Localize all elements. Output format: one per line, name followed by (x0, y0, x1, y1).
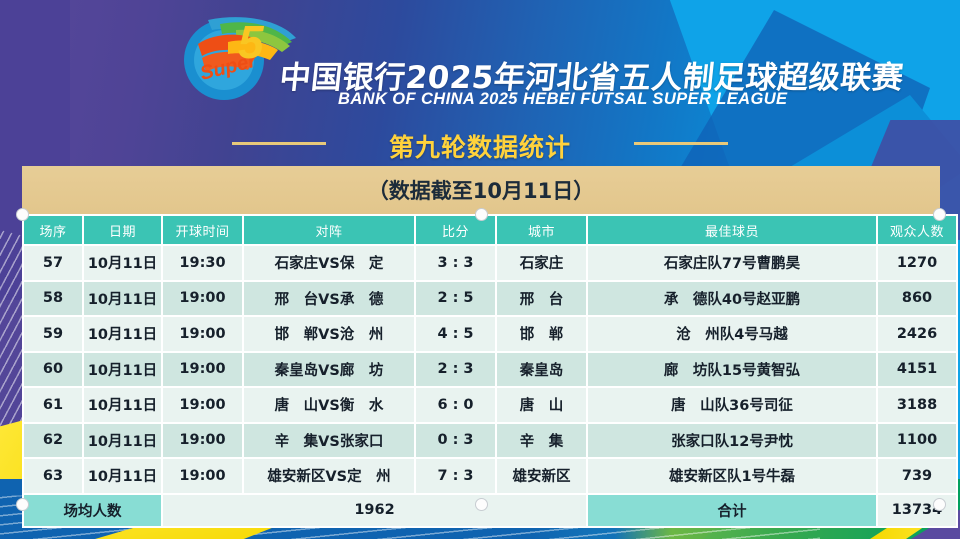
subtitle-text: 第九轮数据统计 (0, 128, 960, 164)
cell-score: 6 : 0 (416, 388, 495, 422)
cell-score: 4 : 5 (416, 317, 495, 351)
cell-fixture: 辛 集VS张家口 (244, 424, 414, 458)
cell-match-no: 60 (24, 353, 82, 387)
cell-match-no: 61 (24, 388, 82, 422)
cell-attendance: 2426 (878, 317, 956, 351)
col-header-kickoff: 开球时间 (163, 216, 242, 244)
page-header: Super 5 中国银行2025年河北省五人制足球超级联赛 BANK OF CH… (0, 0, 960, 118)
cell-attendance: 1100 (878, 424, 956, 458)
cell-kickoff: 19:00 (163, 388, 242, 422)
cell-match-no: 59 (24, 317, 82, 351)
cell-date: 10月11日 (84, 246, 161, 280)
cell-date: 10月11日 (84, 388, 161, 422)
cell-kickoff: 19:00 (163, 424, 242, 458)
cell-date: 10月11日 (84, 353, 161, 387)
cell-kickoff: 19:00 (163, 317, 242, 351)
footer-row: 场均人数 1962 合计 13734 (24, 495, 956, 526)
cell-fixture: 雄安新区VS定 州 (244, 459, 414, 493)
cell-fixture: 石家庄VS保 定 (244, 246, 414, 280)
cell-score: 2 : 5 (416, 282, 495, 316)
col-header-fixture: 对阵 (244, 216, 414, 244)
table-header-row: 场序 日期 开球时间 对阵 比分 城市 最佳球员 观众人数 (24, 216, 956, 244)
cell-date: 10月11日 (84, 317, 161, 351)
cell-city: 辛 集 (497, 424, 586, 458)
cell-score: 3 : 3 (416, 246, 495, 280)
cell-city: 雄安新区 (497, 459, 586, 493)
col-header-city: 城市 (497, 216, 586, 244)
cell-match-no: 58 (24, 282, 82, 316)
cell-mvp: 张家口队12号尹忱 (588, 424, 876, 458)
cell-mvp: 沧 州队4号马越 (588, 317, 876, 351)
footer-average-value: 1962 (163, 495, 586, 526)
col-header-attendance: 观众人数 (878, 216, 956, 244)
cell-attendance: 4151 (878, 353, 956, 387)
panel-caption-bar: （数据截至10月11日） (22, 166, 940, 214)
table-row: 62 10月11日 19:00 辛 集VS张家口 0 : 3 辛 集 张家口队1… (24, 424, 956, 458)
table-row: 61 10月11日 19:00 唐 山VS衡 水 6 : 0 唐 山 唐 山队3… (24, 388, 956, 422)
stats-panel: （数据截至10月11日） 场序 日期 开球时间 对阵 比分 城市 最佳球员 观众… (22, 166, 940, 506)
cell-kickoff: 19:00 (163, 459, 242, 493)
pin-dot-top-left (16, 208, 29, 221)
cell-date: 10月11日 (84, 282, 161, 316)
cell-kickoff: 19:00 (163, 353, 242, 387)
cell-match-no: 57 (24, 246, 82, 280)
table-footer: 场均人数 1962 合计 13734 (24, 495, 956, 526)
table-row: 59 10月11日 19:00 邯 郸VS沧 州 4 : 5 邯 郸 沧 州队4… (24, 317, 956, 351)
col-header-date: 日期 (84, 216, 161, 244)
match-stats-table: 场序 日期 开球时间 对阵 比分 城市 最佳球员 观众人数 57 10月11日 … (22, 214, 958, 528)
cell-mvp: 唐 山队36号司征 (588, 388, 876, 422)
table-row: 57 10月11日 19:30 石家庄VS保 定 3 : 3 石家庄 石家庄队7… (24, 246, 956, 280)
cell-city: 秦皇岛 (497, 353, 586, 387)
cell-score: 0 : 3 (416, 424, 495, 458)
footer-average-label: 场均人数 (24, 495, 161, 526)
cell-city: 邢 台 (497, 282, 586, 316)
table-body: 57 10月11日 19:30 石家庄VS保 定 3 : 3 石家庄 石家庄队7… (24, 246, 956, 493)
table-row: 58 10月11日 19:00 邢 台VS承 德 2 : 5 邢 台 承 德队4… (24, 282, 956, 316)
cell-attendance: 3188 (878, 388, 956, 422)
footer-total-label: 合计 (588, 495, 876, 526)
event-title-en: BANK OF CHINA 2025 HEBEI FUTSAL SUPER LE… (338, 90, 787, 109)
cell-attendance: 860 (878, 282, 956, 316)
cell-date: 10月11日 (84, 424, 161, 458)
pin-dot-bottom-middle (475, 498, 488, 511)
subtitle-band: 第九轮数据统计 (0, 118, 960, 168)
cell-match-no: 63 (24, 459, 82, 493)
cell-kickoff: 19:00 (163, 282, 242, 316)
cell-fixture: 邯 郸VS沧 州 (244, 317, 414, 351)
pin-dot-bottom-left (16, 498, 29, 511)
table-row: 63 10月11日 19:00 雄安新区VS定 州 7 : 3 雄安新区 雄安新… (24, 459, 956, 493)
col-header-mvp: 最佳球员 (588, 216, 876, 244)
cell-city: 唐 山 (497, 388, 586, 422)
cell-match-no: 62 (24, 424, 82, 458)
cell-date: 10月11日 (84, 459, 161, 493)
cell-score: 7 : 3 (416, 459, 495, 493)
cell-score: 2 : 3 (416, 353, 495, 387)
col-header-match-no: 场序 (24, 216, 82, 244)
pin-dot-top-middle (475, 208, 488, 221)
pin-dot-top-right (933, 208, 946, 221)
table-row: 60 10月11日 19:00 秦皇岛VS廊 坊 2 : 3 秦皇岛 廊 坊队1… (24, 353, 956, 387)
cell-city: 邯 郸 (497, 317, 586, 351)
cell-mvp: 承 德队40号赵亚鹏 (588, 282, 876, 316)
svg-text:5: 5 (238, 16, 265, 68)
cell-fixture: 邢 台VS承 德 (244, 282, 414, 316)
cell-fixture: 唐 山VS衡 水 (244, 388, 414, 422)
pin-dot-bottom-right (933, 498, 946, 511)
cell-kickoff: 19:30 (163, 246, 242, 280)
cell-city: 石家庄 (497, 246, 586, 280)
cell-mvp: 廊 坊队15号黄智弘 (588, 353, 876, 387)
panel-caption-text: （数据截至10月11日） (368, 175, 594, 205)
cell-attendance: 1270 (878, 246, 956, 280)
cell-attendance: 739 (878, 459, 956, 493)
cell-mvp: 雄安新区队1号牛磊 (588, 459, 876, 493)
cell-mvp: 石家庄队77号曹鹏昊 (588, 246, 876, 280)
cell-fixture: 秦皇岛VS廊 坊 (244, 353, 414, 387)
